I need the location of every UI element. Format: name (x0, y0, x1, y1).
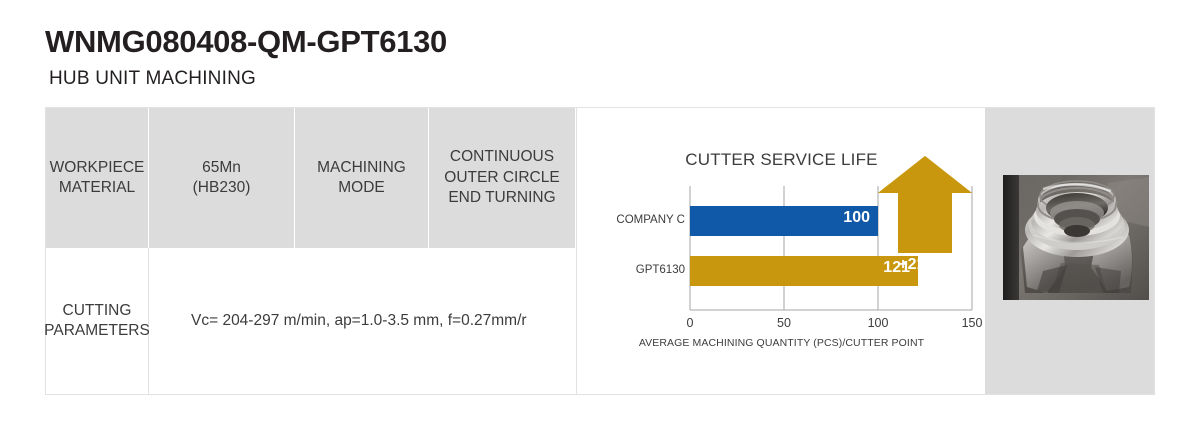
workpiece-material-value-line-2: (HB230) (193, 178, 251, 198)
machining-mode-label-line-2: MODE (317, 178, 406, 198)
bar-category-label-company-c: COMPANY C (585, 214, 685, 226)
product-photo-panel (985, 108, 1154, 394)
table-row: CUTTING PARAMETERS Vc= 204-297 m/min, ap… (46, 248, 575, 394)
workpiece-material-label-line-2: MATERIAL (50, 178, 145, 198)
bar-category-label-gpt6130: GPT6130 (585, 264, 685, 276)
spec-panel: WORKPIECE MATERIAL 65Mn (HB230) MACHININ… (45, 107, 1155, 395)
table-row: WORKPIECE MATERIAL 65Mn (HB230) MACHININ… (46, 108, 575, 248)
cutter-service-life-chart: CUTTER SERVICE LIFE COMPANY C GPT6130 10… (576, 108, 986, 394)
cutting-parameters-label-line-2: PARAMETERS (44, 321, 150, 341)
product-photo (1003, 175, 1149, 300)
page-title: WNMG080408-QM-GPT6130 (45, 24, 447, 60)
up-arrow-shaft (898, 193, 952, 253)
machining-mode-value-line-2: OUTER CIRCLE (444, 168, 559, 188)
up-arrow-head-icon (878, 156, 972, 193)
machining-mode-label-line-1: MACHINING (317, 158, 406, 178)
hub-unit-part-image (1003, 175, 1149, 300)
spec-table: WORKPIECE MATERIAL 65Mn (HB230) MACHININ… (46, 108, 575, 394)
workpiece-material-label: WORKPIECE MATERIAL (46, 108, 149, 248)
bar-value-company-c: 100 (778, 209, 870, 227)
machining-mode-label: MACHINING MODE (295, 108, 429, 248)
machining-mode-value-line-3: END TURNING (444, 188, 559, 208)
machining-mode-value-line-1: CONTINUOUS (444, 147, 559, 167)
cutting-parameters-value: Vc= 204-297 m/min, ap=1.0-3.5 mm, f=0.27… (149, 248, 575, 394)
x-tick-label-100: 100 (858, 316, 898, 330)
workpiece-material-label-line-1: WORKPIECE (50, 158, 145, 178)
chart-plot-area (577, 108, 986, 394)
cutting-parameters-label: CUTTING PARAMETERS (46, 248, 149, 394)
delta-percent-badge: +21% (884, 256, 954, 274)
x-tick-label-0: 0 (670, 316, 710, 330)
workpiece-material-value-line-1: 65Mn (193, 158, 251, 178)
machining-mode-value: CONTINUOUS OUTER CIRCLE END TURNING (429, 108, 575, 248)
x-tick-label-50: 50 (764, 316, 804, 330)
x-axis-label: AVERAGE MACHINING QUANTITY (PCS)/CUTTER … (577, 337, 986, 349)
cutting-parameters-label-line-1: CUTTING (44, 301, 150, 321)
page-subtitle: HUB UNIT MACHINING (49, 68, 256, 90)
workpiece-material-value: 65Mn (HB230) (149, 108, 295, 248)
